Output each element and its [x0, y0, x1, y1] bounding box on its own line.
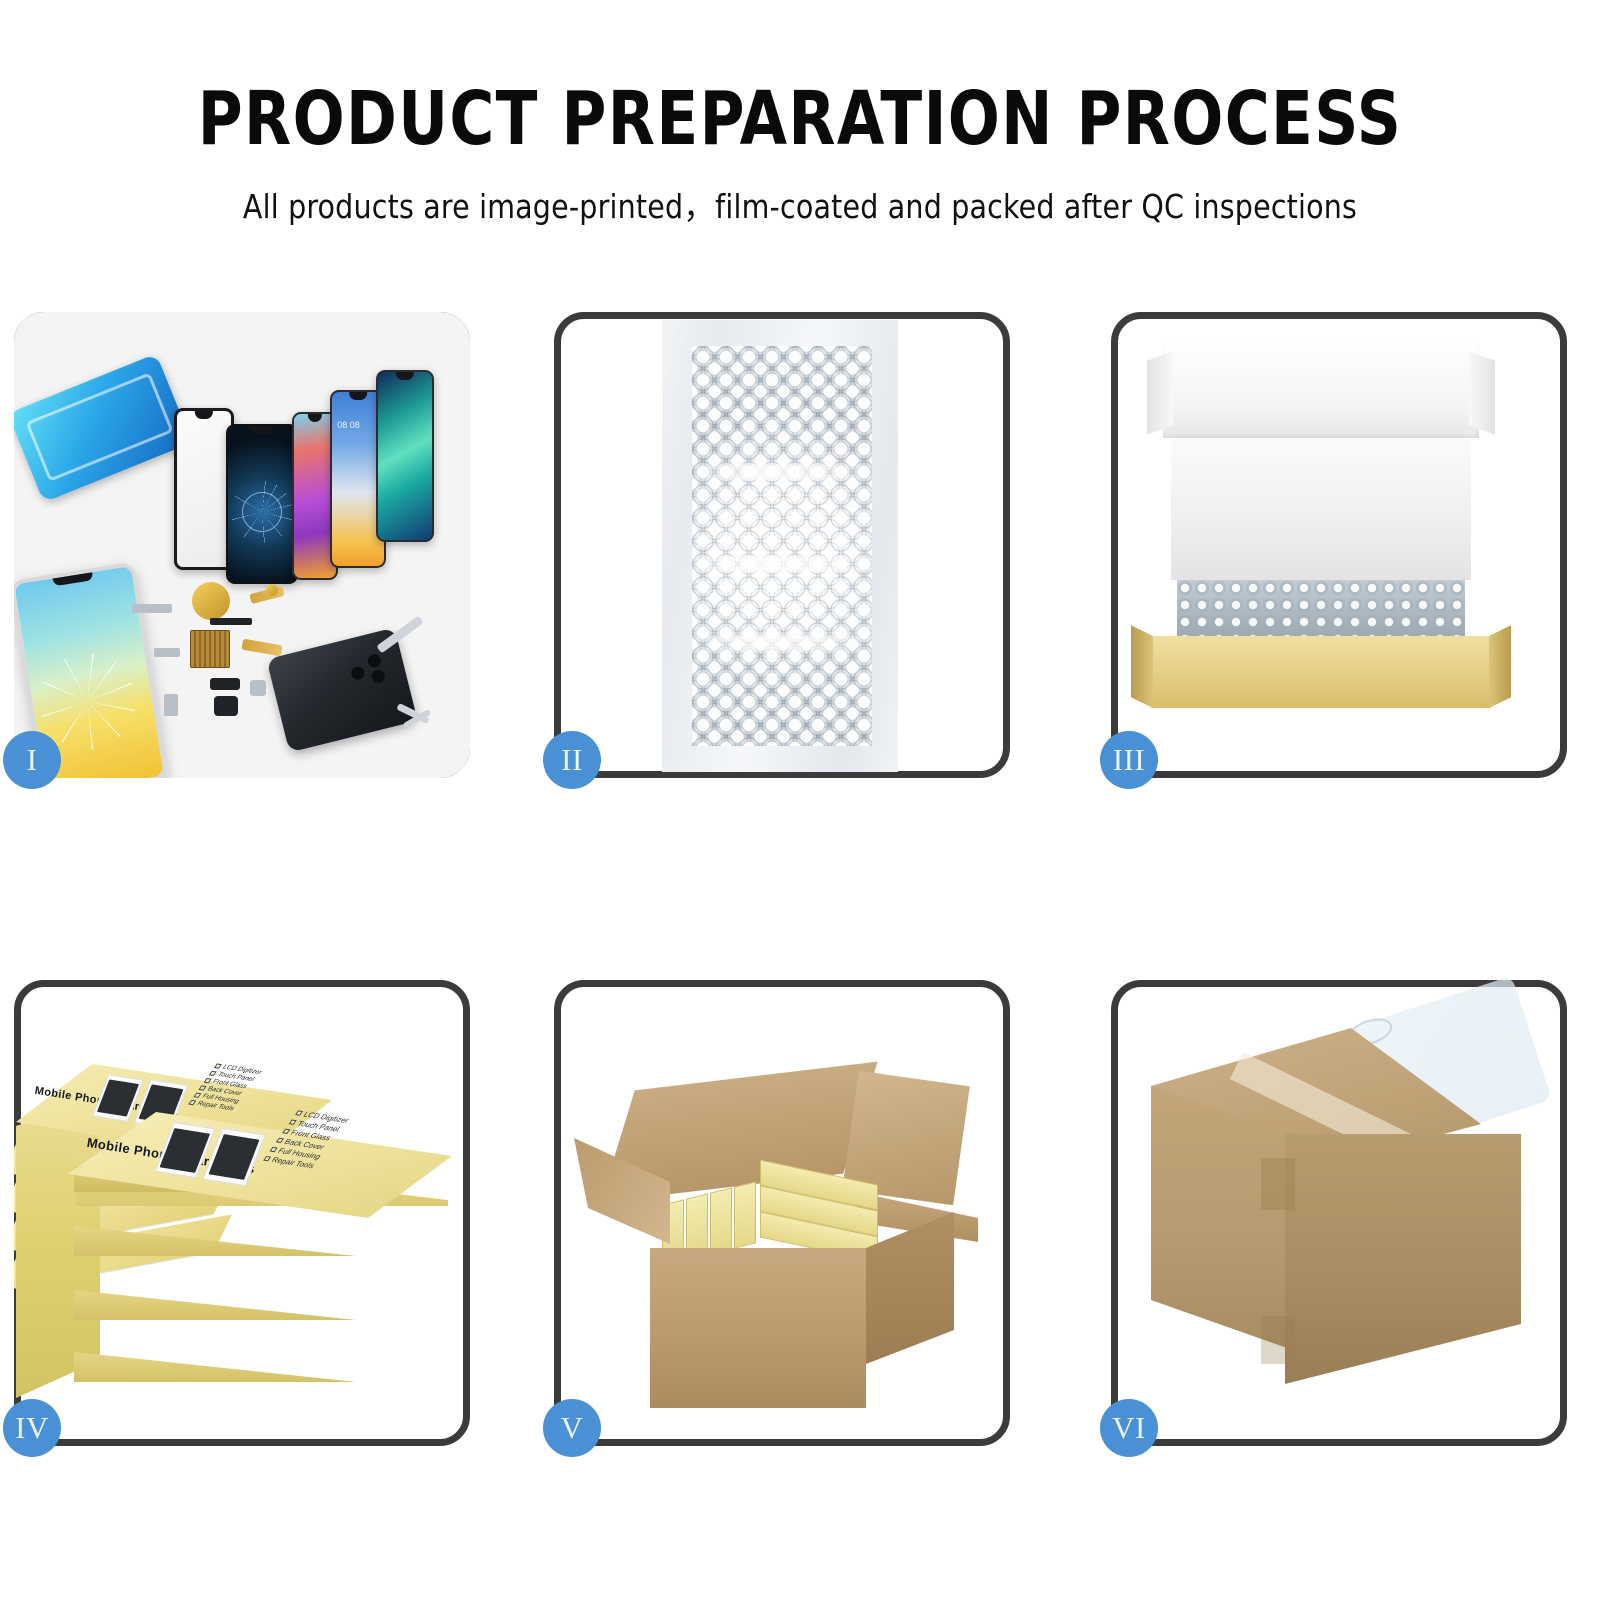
mailer-box-tray: [1151, 636, 1491, 708]
infographic-page: PRODUCT PREPARATION PROCESS All products…: [0, 0, 1600, 1600]
antenna-strip-part: [210, 618, 252, 625]
step-badge-3: III: [1100, 731, 1158, 789]
camera-module-part: [250, 680, 266, 696]
page-title: PRODUCT PREPARATION PROCESS: [64, 82, 1536, 156]
step-panel-1[interactable]: 08 08: [14, 312, 470, 778]
connector-part: [154, 648, 180, 657]
step-badge-6: VI: [1100, 1399, 1158, 1457]
mailer-lid-flap: [1163, 342, 1479, 438]
page-subtitle: All products are image-printed，film-coat…: [32, 180, 1568, 228]
open-mailer-box-image: [1111, 312, 1567, 778]
step-badge-2: II: [543, 731, 601, 789]
screen-osd-text: 08 08: [337, 420, 360, 430]
vibration-motor-part: [266, 584, 278, 596]
step-panel-2[interactable]: II: [554, 312, 1010, 778]
bubble-wrapped-item-image: [554, 312, 1010, 778]
header: PRODUCT PREPARATION PROCESS All products…: [0, 0, 1600, 228]
step-panel-3[interactable]: III: [1111, 312, 1567, 778]
earpiece-speaker-part: [132, 604, 172, 613]
ic-chip-part: [190, 630, 230, 668]
step-badge-1: I: [3, 731, 61, 789]
step-panel-6[interactable]: VI: [1111, 980, 1567, 1446]
step-badge-4: IV: [3, 1399, 61, 1457]
process-step-grid: 08 08: [14, 312, 1590, 1445]
loudspeaker-part: [214, 696, 238, 716]
step-badge-5: V: [543, 1399, 601, 1457]
sealed-shipping-carton-image: [1111, 980, 1567, 1446]
sim-tray-part: [164, 694, 178, 716]
open-shipping-carton-image: [554, 980, 1010, 1446]
stacked-retail-boxes-image: Mobile Phone Spare Parts LCD Digitizer T…: [14, 980, 470, 1446]
step-panel-5[interactable]: V: [554, 980, 1010, 1446]
retail-box-slab: [74, 1208, 450, 1260]
retail-box-slab: [74, 1272, 450, 1324]
bubble-wrap-texture: [692, 346, 872, 746]
carton-right-face: [866, 1212, 954, 1364]
carton-seam-tab-lower: [1261, 1316, 1295, 1364]
carton-seam-tab-upper: [1261, 1158, 1295, 1210]
mailer-inner-wall: [1171, 438, 1471, 580]
carton-front-face: [650, 1248, 866, 1408]
front-glass-panel: [174, 408, 234, 570]
battery-connector-part: [210, 678, 240, 690]
step-panel-4[interactable]: Mobile Phone Spare Parts LCD Digitizer T…: [14, 980, 470, 1446]
wrapped-product: [692, 346, 872, 746]
bubble-wrapped-contents: [1177, 580, 1465, 636]
retail-box-slab: [74, 1334, 450, 1386]
wireless-charging-coil-part: [192, 582, 230, 620]
oled-display-teal: [376, 370, 434, 542]
carton-right-face: [1285, 1134, 1521, 1384]
phone-parts-collage-image: 08 08: [14, 312, 470, 778]
cracked-lcd-screen: [226, 424, 298, 584]
poly-bag: [662, 320, 898, 772]
